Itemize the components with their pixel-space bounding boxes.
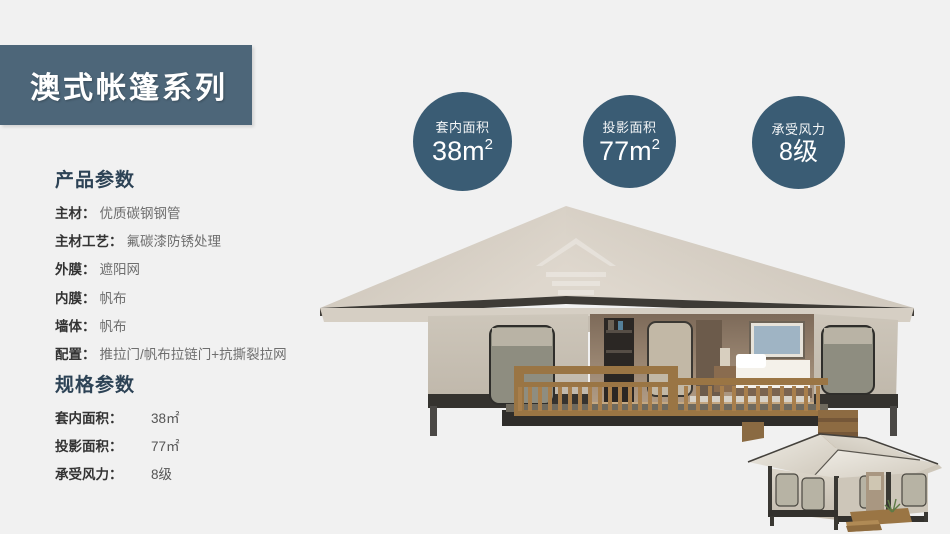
product-params-section: 产品参数 主材： 优质碳钢钢管 主材工艺： 氟碳漆防锈处理 外膜： 遮阳网 内膜… [55, 165, 287, 374]
param-value: 优质碳钢钢管 [100, 205, 181, 223]
badge-label: 投影面积 [602, 117, 656, 136]
badge-label: 套内面积 [435, 117, 489, 136]
param-label: 主材： [55, 205, 96, 223]
param-row: 配置： 推拉门/帆布拉链门+抗撕裂拉网 [55, 346, 287, 364]
param-label: 墙体： [55, 318, 96, 336]
spec-label: 投影面积： [55, 438, 139, 456]
param-label: 配置： [55, 346, 96, 364]
slide-canvas: 澳式帐篷系列 产品参数 主材： 优质碳钢钢管 主材工艺： 氟碳漆防锈处理 外膜：… [0, 0, 950, 534]
spec-row: 承受风力： 8级 [55, 466, 180, 484]
param-row: 主材： 优质碳钢钢管 [55, 205, 287, 223]
product-params-heading: 产品参数 [55, 165, 287, 192]
stat-badge-projected-area: 投影面积 77m2 [583, 95, 676, 188]
badge-label: 承受风力 [771, 119, 825, 138]
param-value: 遮阳网 [100, 261, 141, 279]
param-row: 主材工艺： 氟碳漆防锈处理 [55, 233, 287, 251]
page-title: 澳式帐篷系列 [30, 63, 228, 107]
title-banner: 澳式帐篷系列 [0, 45, 252, 125]
spec-label: 套内面积： [55, 410, 139, 428]
spec-row: 套内面积： 38㎡ [55, 410, 180, 428]
thumbnail-tent-illustration [742, 416, 950, 534]
param-row: 墙体： 帆布 [55, 318, 287, 336]
param-label: 主材工艺： [55, 233, 123, 251]
param-value: 氟碳漆防锈处理 [127, 233, 222, 251]
badge-value: 38m2 [432, 137, 493, 167]
param-row: 外膜： 遮阳网 [55, 261, 287, 279]
spec-row: 投影面积： 77㎡ [55, 438, 180, 456]
spec-value: 8级 [151, 466, 172, 484]
param-label: 内膜： [55, 290, 96, 308]
stat-badge-indoor-area: 套内面积 38m2 [413, 92, 512, 191]
spec-value: 38㎡ [151, 410, 180, 428]
thumbnail-tent-image [742, 416, 950, 534]
badge-value: 77m2 [599, 137, 660, 167]
param-label: 外膜： [55, 261, 96, 279]
stat-badge-wind-resistance: 承受风力 8级 [752, 96, 845, 189]
spec-params-heading: 规格参数 [55, 370, 180, 397]
param-value: 帆布 [100, 318, 127, 336]
badge-value: 8级 [779, 139, 818, 167]
spec-value: 77㎡ [151, 438, 180, 456]
param-value: 帆布 [100, 290, 127, 308]
param-value: 推拉门/帆布拉链门+抗撕裂拉网 [100, 346, 287, 364]
spec-params-section: 规格参数 套内面积： 38㎡ 投影面积： 77㎡ 承受风力： 8级 [55, 370, 180, 495]
spec-label: 承受风力： [55, 466, 139, 484]
param-row: 内膜： 帆布 [55, 290, 287, 308]
